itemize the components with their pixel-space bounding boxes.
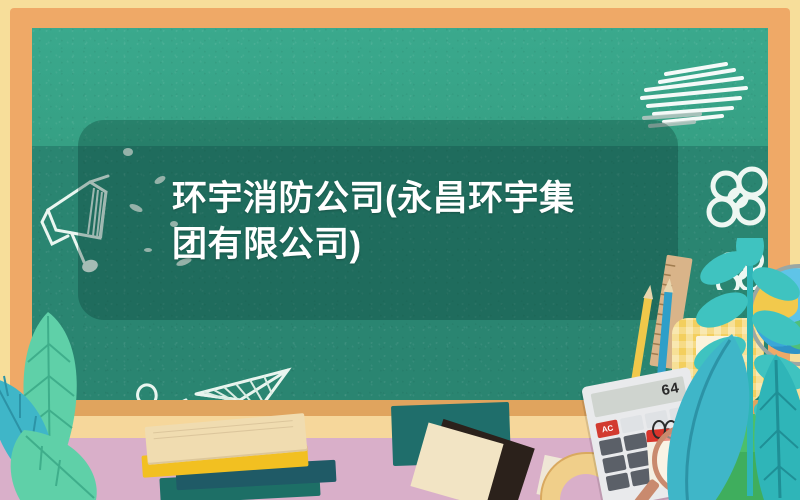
calculator-key [606,472,630,491]
calculator-clear-key: AC [595,419,619,438]
page-title: 环宇消防公司(永昌环宇集团有限公司) [172,176,592,268]
leaf-decoration-far-right [746,352,800,500]
poster-canvas: 环宇消防公司(永昌环宇集团有限公司) [0,0,800,500]
calculator-key [602,455,626,474]
calculator-key [599,437,623,456]
